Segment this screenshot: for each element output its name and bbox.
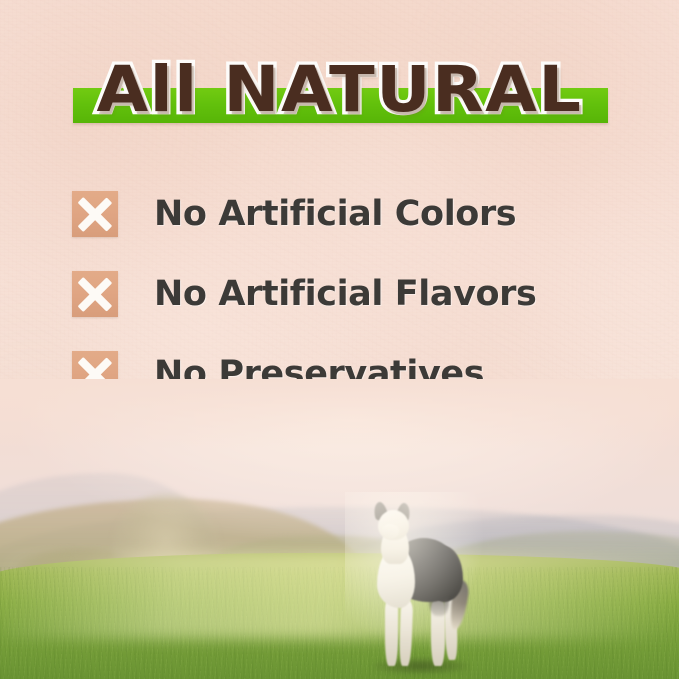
- headline-block: All NATURAL: [0, 49, 679, 131]
- grass-meadow: [0, 553, 679, 679]
- claim-row: No Artificial Flavors: [72, 254, 632, 334]
- claim-label: No Artificial Colors: [154, 197, 516, 232]
- claim-label: No Artificial Flavors: [154, 277, 536, 312]
- x-mark-icon: [72, 271, 118, 317]
- claim-row: No Artificial Colors: [72, 174, 632, 254]
- dog-front-leg-left: [385, 598, 398, 666]
- border-collie-dog: [355, 502, 475, 674]
- dog-front-leg-right: [399, 600, 413, 666]
- x-mark-icon: [72, 191, 118, 237]
- all-natural-product-banner: All NATURAL No Artificial Colors No Arti…: [0, 0, 679, 679]
- landscape-photo: [0, 379, 679, 679]
- headline-title: All NATURAL: [0, 49, 679, 131]
